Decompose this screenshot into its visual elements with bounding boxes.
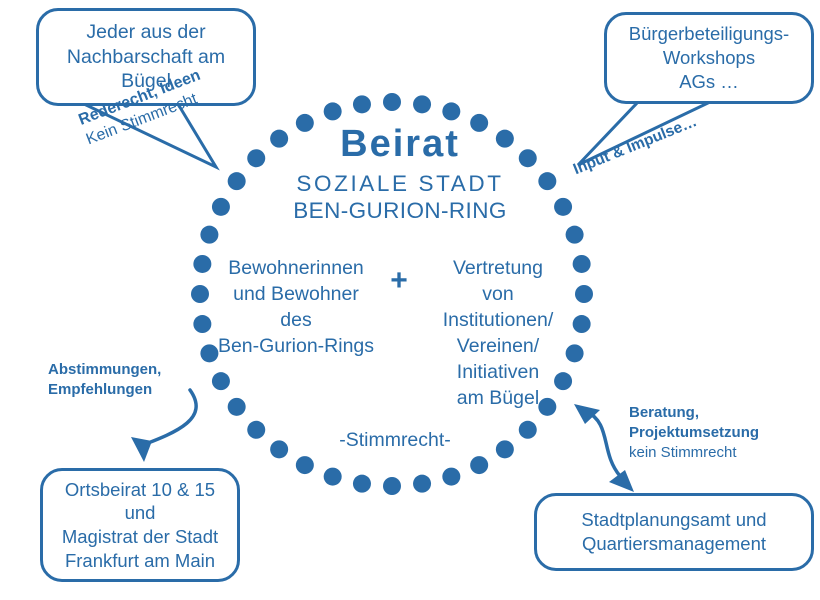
membership-residents-line-4: Ben-Gurion-Rings xyxy=(212,334,380,360)
ring-dot xyxy=(554,198,572,216)
membership-institutions-line-4: Vereinen/ xyxy=(418,334,578,360)
box-ortsbeirat-line-2: und xyxy=(125,501,156,525)
ring-dot xyxy=(413,95,431,113)
ring-dot xyxy=(413,475,431,493)
box-stadtplanung-line-2: Quartiersmanagement xyxy=(582,532,766,556)
ring-dot xyxy=(496,440,514,458)
center-membership-columns: Bewohnerinnen und Bewohner des Ben-Gurio… xyxy=(205,256,585,412)
ring-dot xyxy=(296,456,314,474)
ring-dot xyxy=(519,421,537,439)
ring-dot xyxy=(228,172,246,190)
arrowhead-abstimmungen xyxy=(131,437,152,462)
callout-workshops[interactable]: Bürgerbeteiligungs- Workshops AGs … xyxy=(604,12,814,104)
membership-institutions-line-2: von xyxy=(418,282,578,308)
box-stadtplanungsamt-quartiersmanagement[interactable]: Stadtplanungsamt und Quartiersmanagement xyxy=(534,493,814,571)
callout-neighbourhood-line-2: Nachbarschaft am xyxy=(67,45,225,70)
box-ortsbeirat-magistrat[interactable]: Ortsbeirat 10 & 15 und Magistrat der Sta… xyxy=(40,468,240,582)
diagram-canvas: Jeder aus der Nachbarschaft am Bügel Bür… xyxy=(0,0,820,600)
box-ortsbeirat-line-3: Magistrat der Stadt xyxy=(62,525,218,549)
connector-label-beratung-line-3: kein Stimmrecht xyxy=(629,443,759,463)
ring-dot xyxy=(442,102,460,120)
ring-dot xyxy=(353,95,371,113)
voting-rights-note: -Stimmrecht- xyxy=(295,429,495,452)
ring-dot xyxy=(470,456,488,474)
membership-institutions-line-5: Initiativen xyxy=(418,360,578,386)
callout-neighbourhood-line-1: Jeder aus der xyxy=(86,20,205,45)
connector-label-input: Input & Impulse… xyxy=(570,112,700,180)
box-ortsbeirat-line-1: Ortsbeirat 10 & 15 xyxy=(65,478,215,502)
page-title: Beirat xyxy=(250,125,550,165)
connector-label-beratung-line-2: Projektumsetzung xyxy=(629,423,759,443)
callout-workshops-line-1: Bürgerbeteiligungs- xyxy=(629,22,789,46)
box-stadtplanung-line-1: Stadtplanungsamt und xyxy=(581,508,766,532)
membership-column-residents: Bewohnerinnen und Bewohner des Ben-Gurio… xyxy=(212,256,380,360)
connector-label-abstimmungen-line-2: Empfehlungen xyxy=(48,380,161,400)
membership-residents-line-3: des xyxy=(212,308,380,334)
membership-residents-line-2: und Bewohner xyxy=(212,282,380,308)
arrowhead-beratung-down xyxy=(609,470,634,492)
connector-label-input-strong: Input & Impulse… xyxy=(570,112,700,180)
ring-dot xyxy=(212,198,230,216)
membership-institutions-line-6: am Bügel xyxy=(418,386,578,412)
center-subtitle-1: SOZIALE STADT xyxy=(250,171,550,197)
ring-dot xyxy=(200,226,218,244)
ring-dot xyxy=(442,468,460,486)
connector-label-abstimmungen-line-1: Abstimmungen, xyxy=(48,360,161,380)
center-title-block: Beirat SOZIALE STADT BEN-GURION-RING xyxy=(250,125,550,224)
ring-dot xyxy=(324,102,342,120)
ring-dot xyxy=(247,421,265,439)
ring-dot xyxy=(270,440,288,458)
box-ortsbeirat-line-4: Frankfurt am Main xyxy=(65,549,215,573)
connector-label-beratung-line-1: Beratung, xyxy=(629,403,759,423)
membership-institutions-line-3: Institutionen/ xyxy=(418,308,578,334)
ring-dot xyxy=(383,477,401,495)
connector-label-abstimmungen: Abstimmungen, Empfehlungen xyxy=(48,360,161,400)
membership-institutions-line-1: Vertretung xyxy=(418,256,578,282)
ring-dot xyxy=(383,93,401,111)
connector-label-beratung: Beratung, Projektumsetzung kein Stimmrec… xyxy=(629,403,759,462)
ring-dot xyxy=(566,226,584,244)
membership-column-institutions: Vertretung von Institutionen/ Vereinen/ … xyxy=(418,256,578,412)
callout-workshops-line-3: AGs … xyxy=(679,70,739,94)
center-subtitle-2: BEN-GURION-RING xyxy=(250,198,550,224)
arrow-beratung xyxy=(586,411,620,476)
ring-dot xyxy=(353,475,371,493)
plus-icon: + xyxy=(380,264,418,298)
ring-dot xyxy=(324,468,342,486)
callout-workshops-line-2: Workshops xyxy=(663,46,755,70)
membership-residents-line-1: Bewohnerinnen xyxy=(212,256,380,282)
